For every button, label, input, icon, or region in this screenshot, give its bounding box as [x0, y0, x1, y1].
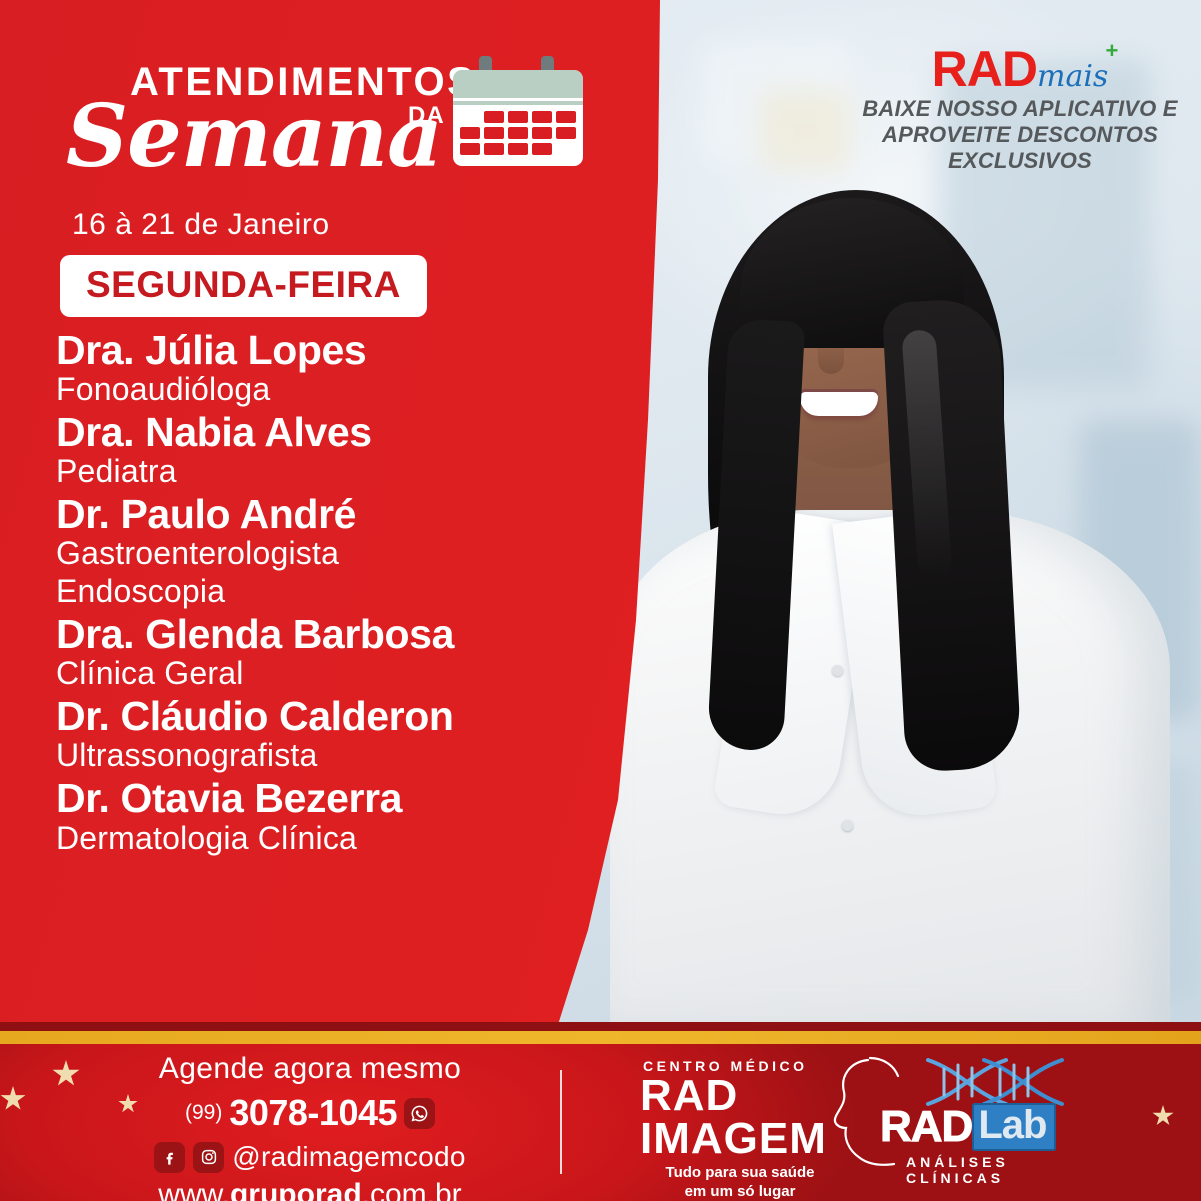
radmais-logo: RADmais +	[932, 40, 1109, 92]
phone-row[interactable]: (99) 3078-1045	[110, 1092, 510, 1134]
radlab-logo: RAD Lab ANÁLISES CLÍNICAS	[880, 1072, 1110, 1186]
doctor-specialty: Ultrassonografista	[56, 738, 616, 774]
divider-dark	[0, 1022, 1201, 1031]
calendar-icon	[453, 56, 583, 166]
doctor-name: Dr. Paulo André	[56, 492, 616, 536]
calendar-grid	[453, 105, 583, 162]
doctor-portrait	[560, 120, 1200, 1031]
website[interactable]: www.gruporad.com.br	[110, 1178, 510, 1201]
coat-button	[832, 665, 843, 676]
promo-poster: ATENDIMENTOS Semana DA	[0, 0, 1201, 1201]
social-row[interactable]: @radimagemcodo	[110, 1141, 510, 1173]
doctor-name: Dra. Glenda Barbosa	[56, 612, 616, 656]
doctor-specialty: Endoscopia	[56, 574, 616, 610]
page-title-script: Semana	[66, 86, 442, 187]
coat-button	[842, 820, 853, 831]
social-handle[interactable]: @radimagemcodo	[232, 1141, 465, 1173]
contact-block: Agende agora mesmo (99) 3078-1045	[110, 1052, 510, 1201]
radlab-rad-text: RAD	[880, 1102, 972, 1152]
calendar-header-band	[453, 70, 583, 98]
app-promo-tagline-line1: BAIXE NOSSO APLICATIVO E	[855, 96, 1185, 122]
radmais-mais-text: mais	[1037, 59, 1108, 94]
phone-number[interactable]: 3078-1045	[229, 1092, 397, 1134]
facebook-icon[interactable]	[154, 1142, 185, 1173]
smile	[800, 392, 878, 416]
calendar-body	[453, 70, 583, 166]
phone-area-code: (99)	[185, 1101, 222, 1125]
plus-icon: +	[1105, 38, 1118, 64]
doctor-specialty: Fonoaudióloga	[56, 372, 616, 408]
doctor-specialty: Dermatologia Clínica	[56, 821, 616, 857]
radmais-app-promo: RADmais + BAIXE NOSSO APLICATIVO E APROV…	[855, 40, 1185, 174]
doctor-specialty: Gastroenterologista	[56, 536, 616, 572]
day-badge-label: SEGUNDA-FEIRA	[86, 264, 401, 305]
doctor-name: Dr. Otavia Bezerra	[56, 776, 616, 820]
radlab-tagline: ANÁLISES CLÍNICAS	[906, 1154, 1110, 1186]
doctor-list: Dra. Júlia LopesFonoaudiólogaDra. Nabia …	[56, 328, 616, 858]
radlab-lab-text: Lab	[972, 1103, 1056, 1151]
doctor-specialty: Clínica Geral	[56, 656, 616, 692]
radimagem-tagline-line2: em um só lugar	[640, 1183, 840, 1201]
doctor-name: Dra. Nabia Alves	[56, 410, 616, 454]
whatsapp-icon[interactable]	[404, 1098, 435, 1129]
hair-strand-right	[882, 297, 1022, 772]
instagram-icon[interactable]	[193, 1142, 224, 1173]
radlab-wordmark: RAD Lab	[880, 1102, 1110, 1152]
doctor-specialty: Pediatra	[56, 454, 616, 490]
page-title-suffix: DA	[408, 102, 445, 130]
doctor-name: Dr. Cláudio Calderon	[56, 694, 616, 738]
footer-divider	[560, 1070, 562, 1174]
doctor-name: Dra. Júlia Lopes	[56, 328, 616, 372]
radmais-rad-text: RAD	[932, 41, 1037, 97]
website-suffix: .com.br	[362, 1178, 462, 1201]
divider-gold	[0, 1031, 1201, 1044]
contact-cta: Agende agora mesmo	[110, 1052, 510, 1086]
app-promo-tagline-line2: APROVEITE DESCONTOS EXCLUSIVOS	[855, 122, 1185, 174]
dna-helix-icon	[910, 1056, 1080, 1108]
radimagem-logo: CENTRO MÉDICO RAD IMAGEM Tudo para sua s…	[640, 1058, 900, 1201]
day-badge: SEGUNDA-FEIRA	[60, 255, 427, 317]
poster-header: ATENDIMENTOS Semana DA	[58, 52, 618, 192]
app-promo-tagline: BAIXE NOSSO APLICATIVO E APROVEITE DESCO…	[855, 96, 1185, 174]
website-brand: gruporad	[230, 1178, 362, 1201]
date-range: 16 à 21 de Janeiro	[72, 208, 330, 242]
website-prefix: www.	[158, 1178, 230, 1201]
